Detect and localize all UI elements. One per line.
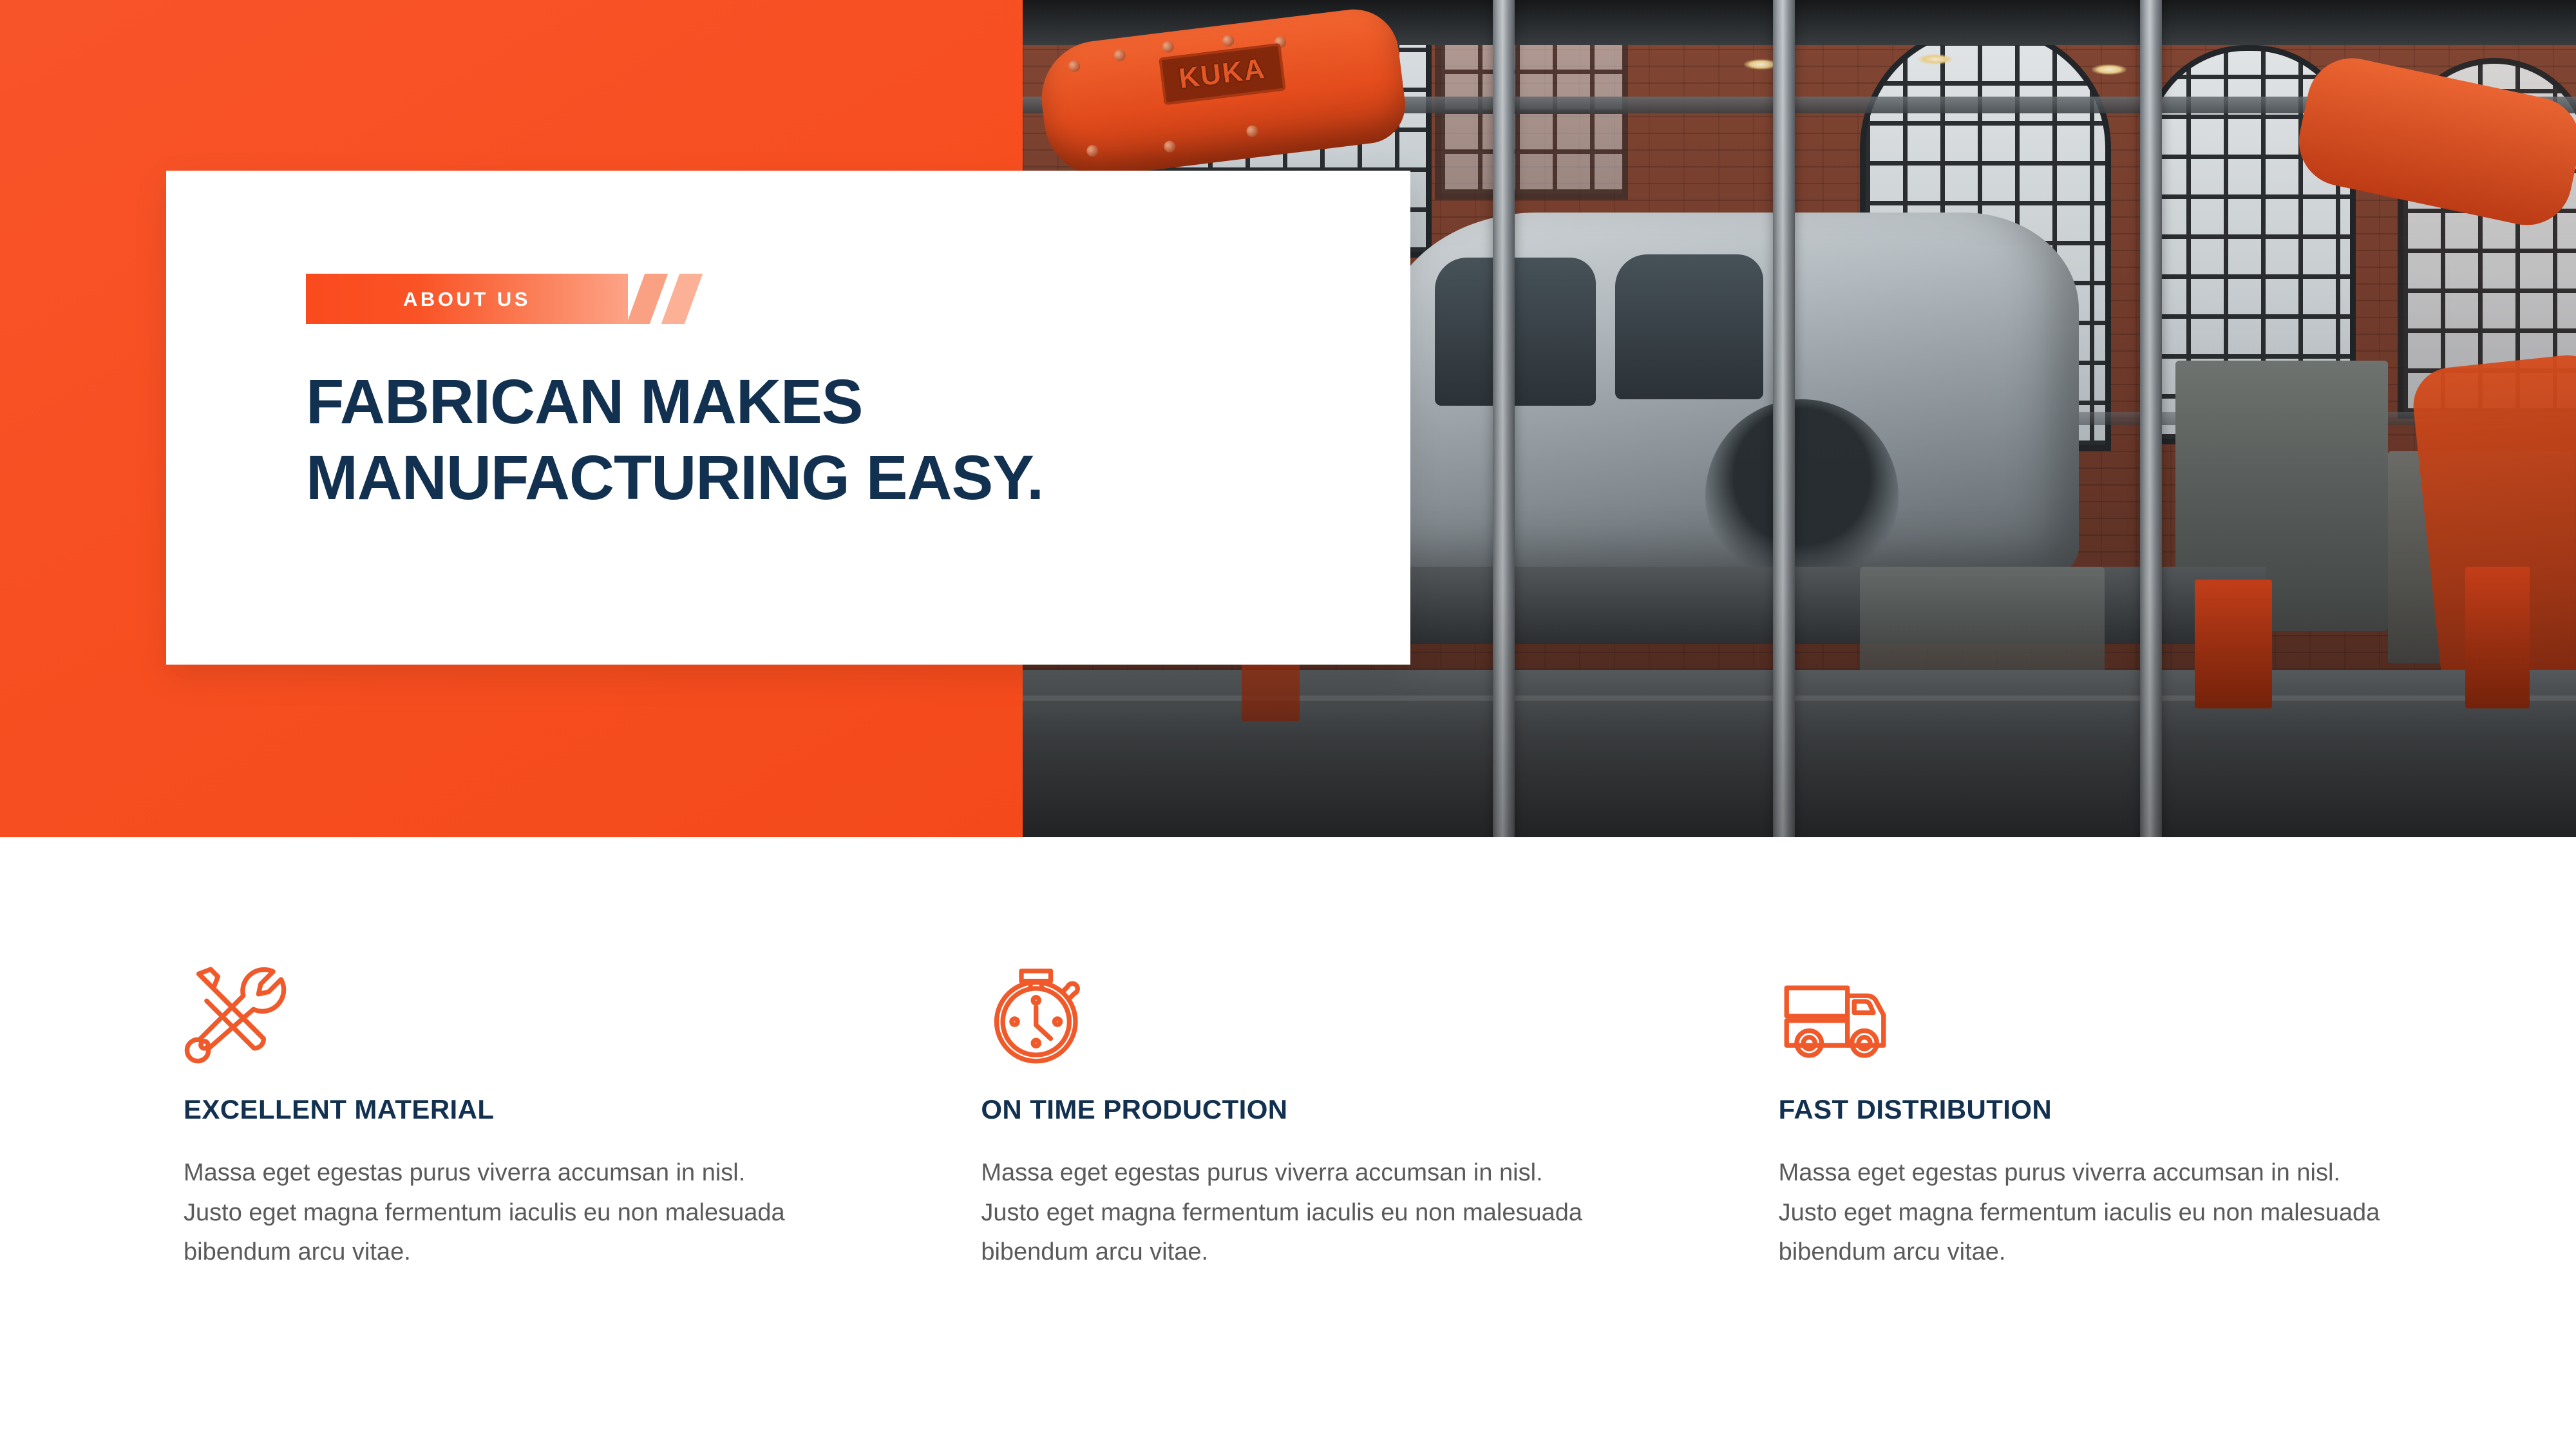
- hero-title-line-2: MANUFACTURING EASY.: [306, 442, 1043, 513]
- badge-bar: ABOUT US: [306, 274, 628, 324]
- hero-section: KUKA ABOUT US FABRICAN MAKES MANUFA: [0, 0, 2576, 837]
- page-title: FABRICAN MAKES MANUFACTURING EASY.: [306, 364, 1336, 516]
- hero-title-line-1: FABRICAN MAKES: [306, 366, 862, 437]
- badge-slash-icon: [661, 274, 703, 324]
- about-us-badge: ABOUT US: [306, 274, 705, 325]
- feature-body: Massa eget egestas purus viverra accumsa…: [184, 1153, 802, 1273]
- feature-body: Massa eget egestas purus viverra accumsa…: [981, 1153, 1599, 1273]
- feature-title: FAST DISTRIBUTION: [1779, 1096, 2576, 1123]
- features-grid: EXCELLENT MATERIAL Massa eget egestas pu…: [0, 956, 2576, 1273]
- wrench-screwdriver-icon: [184, 956, 981, 1069]
- delivery-truck-icon: [1779, 956, 2576, 1069]
- feature-card-fast-distribution: FAST DISTRIBUTION Massa eget egestas pur…: [1779, 956, 2576, 1273]
- hero-text-card: ABOUT US FABRICAN MAKES MANUFACTURING EA…: [166, 171, 1410, 665]
- feature-title: EXCELLENT MATERIAL: [184, 1096, 981, 1123]
- feature-title: ON TIME PRODUCTION: [981, 1096, 1778, 1123]
- badge-slash-icon: [627, 274, 668, 324]
- stopwatch-icon: [981, 956, 1778, 1069]
- feature-body: Massa eget egestas purus viverra accumsa…: [1779, 1153, 2397, 1273]
- feature-card-on-time-production: ON TIME PRODUCTION Massa eget egestas pu…: [981, 956, 1778, 1273]
- features-section: EXCELLENT MATERIAL Massa eget egestas pu…: [0, 837, 2576, 1449]
- badge-label: ABOUT US: [403, 289, 531, 309]
- feature-card-excellent-material: EXCELLENT MATERIAL Massa eget egestas pu…: [184, 956, 981, 1273]
